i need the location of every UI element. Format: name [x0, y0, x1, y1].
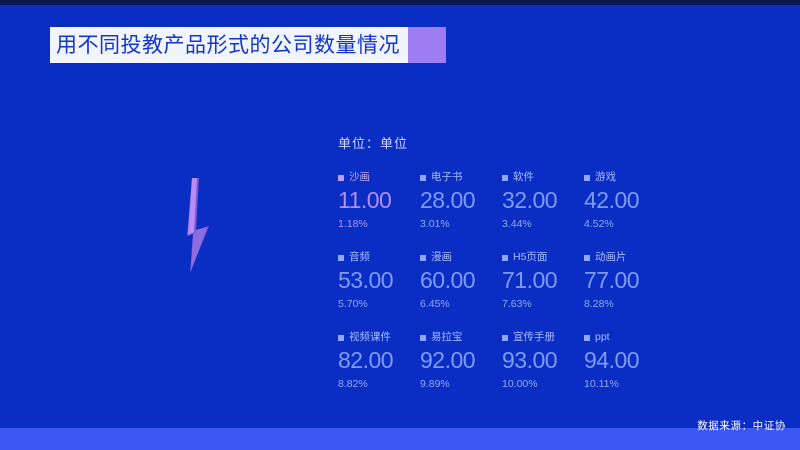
title-accent-block	[408, 27, 446, 63]
stat-percentage: 5.70%	[338, 299, 420, 310]
stat-label: 沙画	[349, 172, 370, 183]
stat-card[interactable]: 漫画 60.00 6.45%	[420, 251, 502, 331]
stat-card[interactable]: 软件 32.00 3.44%	[502, 171, 584, 251]
stat-card[interactable]: 音频 53.00 5.70%	[338, 251, 420, 331]
square-bullet-icon	[584, 335, 590, 341]
footer-band	[0, 428, 800, 450]
stat-percentage: 4.52%	[584, 219, 666, 230]
stat-card[interactable]: 游戏 42.00 4.52%	[584, 171, 666, 251]
top-edge-strip	[0, 0, 800, 5]
square-bullet-icon	[338, 255, 344, 261]
stat-card[interactable]: 沙画 11.00 1.18%	[338, 171, 420, 251]
stat-label: 宣传手册	[513, 332, 555, 343]
page-title: 用不同投教产品形式的公司数量情况	[56, 35, 400, 56]
stat-value: 92.00	[420, 349, 502, 372]
square-bullet-icon	[420, 175, 426, 181]
stat-label: 动画片	[595, 252, 627, 263]
stat-card-head: 沙画	[338, 171, 420, 184]
stat-label: ppt	[595, 332, 610, 343]
stat-card-head: 动画片	[584, 251, 666, 264]
square-bullet-icon	[338, 335, 344, 341]
source-note: 数据来源：中证协	[697, 418, 786, 433]
stat-percentage: 8.82%	[338, 379, 420, 390]
stat-percentage: 3.01%	[420, 219, 502, 230]
square-bullet-icon	[584, 175, 590, 181]
stat-value: 28.00	[420, 189, 502, 212]
title-plate: 用不同投教产品形式的公司数量情况	[50, 27, 408, 63]
stat-label: 软件	[513, 172, 534, 183]
stat-card[interactable]: ppt 94.00 10.11%	[584, 331, 666, 411]
stats-grid: 沙画 11.00 1.18% 电子书 28.00 3.01% 软件 32.00 …	[338, 171, 666, 411]
stat-percentage: 1.18%	[338, 219, 420, 230]
square-bullet-icon	[420, 255, 426, 261]
stat-card-head: 电子书	[420, 171, 502, 184]
stat-card-head: 漫画	[420, 251, 502, 264]
stat-card[interactable]: 视频课件 82.00 8.82%	[338, 331, 420, 411]
square-bullet-icon	[502, 255, 508, 261]
stat-percentage: 6.45%	[420, 299, 502, 310]
square-bullet-icon	[502, 335, 508, 341]
stat-card-head: 视频课件	[338, 331, 420, 344]
stat-card-head: 易拉宝	[420, 331, 502, 344]
stat-value: 11.00	[338, 189, 420, 212]
square-bullet-icon	[584, 255, 590, 261]
stat-label: 音频	[349, 252, 370, 263]
lightning-bolt-icon	[178, 178, 218, 273]
stat-card-head: 宣传手册	[502, 331, 584, 344]
stat-value: 93.00	[502, 349, 584, 372]
stat-card-head: 音频	[338, 251, 420, 264]
stat-label: H5页面	[513, 252, 547, 263]
slide-canvas: 用不同投教产品形式的公司数量情况 单位：单位 沙画 11.00 1.18% 电子…	[0, 0, 800, 450]
stat-label: 视频课件	[349, 332, 391, 343]
stat-card-head: 软件	[502, 171, 584, 184]
stat-card[interactable]: 动画片 77.00 8.28%	[584, 251, 666, 331]
stat-card[interactable]: 电子书 28.00 3.01%	[420, 171, 502, 251]
stat-percentage: 7.63%	[502, 299, 584, 310]
stat-percentage: 9.89%	[420, 379, 502, 390]
square-bullet-icon	[502, 175, 508, 181]
stat-value: 94.00	[584, 349, 666, 372]
slide-title-bar: 用不同投教产品形式的公司数量情况	[50, 27, 446, 63]
stat-percentage: 8.28%	[584, 299, 666, 310]
stat-value: 71.00	[502, 269, 584, 292]
stat-label: 易拉宝	[431, 332, 463, 343]
square-bullet-icon	[338, 175, 344, 181]
stat-value: 42.00	[584, 189, 666, 212]
stat-value: 60.00	[420, 269, 502, 292]
stat-value: 82.00	[338, 349, 420, 372]
stat-label: 游戏	[595, 172, 616, 183]
stat-card[interactable]: 宣传手册 93.00 10.00%	[502, 331, 584, 411]
stat-card-head: ppt	[584, 331, 666, 344]
stat-percentage: 3.44%	[502, 219, 584, 230]
unit-label: 单位：单位	[338, 133, 408, 152]
stat-value: 32.00	[502, 189, 584, 212]
stat-value: 77.00	[584, 269, 666, 292]
stat-label: 电子书	[431, 172, 463, 183]
square-bullet-icon	[420, 335, 426, 341]
stat-value: 53.00	[338, 269, 420, 292]
stat-card-head: H5页面	[502, 251, 584, 264]
stat-label: 漫画	[431, 252, 452, 263]
stat-card[interactable]: 易拉宝 92.00 9.89%	[420, 331, 502, 411]
stat-percentage: 10.11%	[584, 379, 666, 390]
stat-card-head: 游戏	[584, 171, 666, 184]
stat-card[interactable]: H5页面 71.00 7.63%	[502, 251, 584, 331]
stat-percentage: 10.00%	[502, 379, 584, 390]
